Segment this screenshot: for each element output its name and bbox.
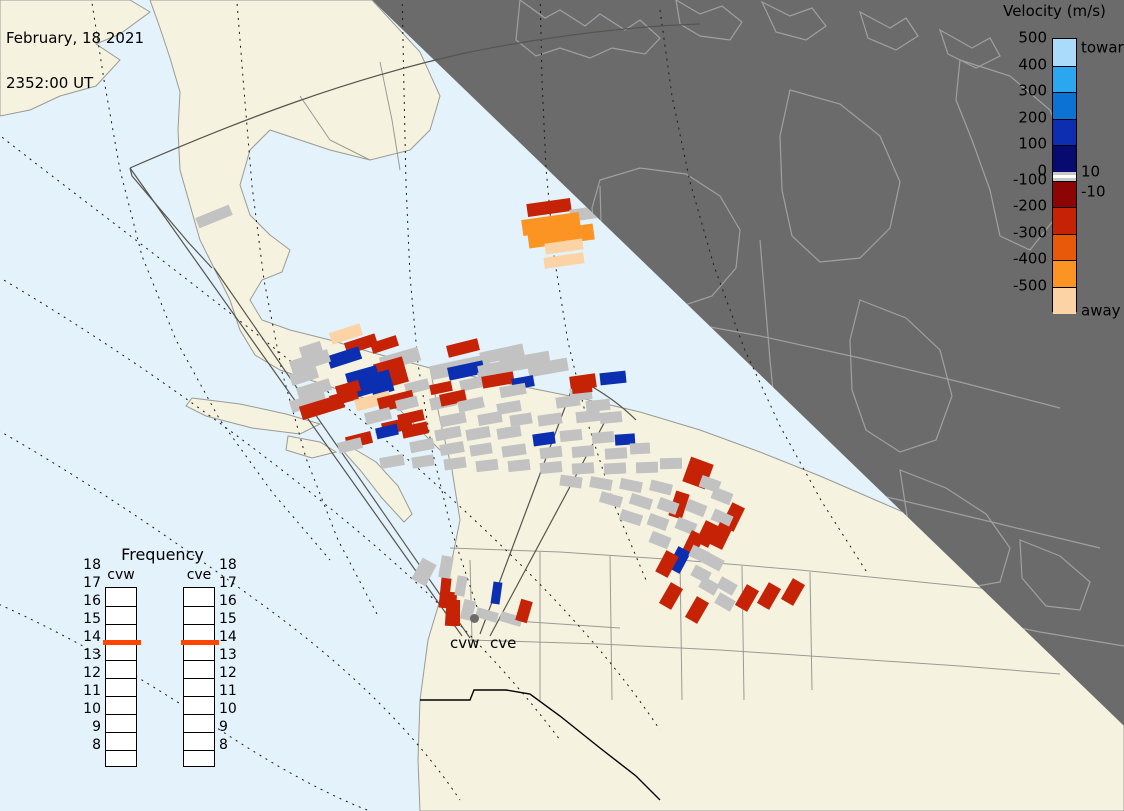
colorbar-band--100: [1053, 181, 1076, 209]
colorbar-tick--300: -300: [1013, 225, 1047, 240]
frequency-bar-cve: [183, 587, 215, 767]
colorbar-tick-200: 200: [1018, 110, 1047, 125]
frequency-tick-14: 14: [83, 630, 101, 644]
colorbar-band-200: [1053, 119, 1076, 147]
velocity-cell: [636, 462, 658, 474]
colorbar-tick-100: 100: [1018, 137, 1047, 152]
colorbar-band-100: [1053, 145, 1076, 173]
colorbar-tick-500: 500: [1018, 31, 1047, 46]
frequency-segment-divider: [106, 750, 136, 751]
colorbar-toward-label: toward: [1081, 41, 1124, 56]
colorbar-tick-400: 400: [1018, 57, 1047, 72]
frequency-tick-9: 9: [219, 720, 228, 734]
velocity-cell: [660, 458, 682, 469]
timestamp-time: 2352:00 UT: [6, 76, 144, 91]
velocity-cell: [604, 462, 627, 474]
frequency-tick-10: 10: [219, 702, 237, 716]
frequency-segment-divider: [106, 624, 136, 625]
frequency-segment-divider: [184, 696, 214, 697]
colorbar-tick-labels: 5004003002001000-100-200-300-400-500: [985, 0, 1047, 335]
frequency-tick-14: 14: [219, 630, 237, 644]
colorbar-away-label: away: [1081, 304, 1121, 319]
radar-site-marker: [470, 614, 479, 623]
frequency-bar-cvw: [105, 587, 137, 767]
frequency-marker-cve: [181, 640, 219, 645]
frequency-segment-divider: [106, 732, 136, 733]
colorbar-tick--400: -400: [1013, 252, 1047, 267]
frequency-legend: Frequency cvwcve181716151413121110981817…: [85, 545, 240, 780]
velocity-cell: [540, 461, 563, 474]
colorbar-tick-300: 300: [1018, 84, 1047, 99]
radar-map-page: February, 18 2021 2352:00 UT Velocity (m…: [0, 0, 1124, 811]
frequency-segment-divider: [106, 696, 136, 697]
frequency-segment-divider: [106, 678, 136, 679]
velocity-cell: [630, 442, 651, 454]
frequency-tick-9: 9: [92, 720, 101, 734]
velocity-cell: [507, 459, 530, 472]
frequency-tick-12: 12: [83, 666, 101, 680]
frequency-segment-divider: [184, 750, 214, 751]
timestamp-date: February, 18 2021: [6, 31, 144, 46]
frequency-tick-17: 17: [219, 576, 237, 590]
colorbar-band-0: [1053, 172, 1076, 181]
velocity-cell: [605, 447, 628, 460]
frequency-segment-divider: [184, 624, 214, 625]
velocity-cell: [572, 462, 595, 475]
radar-site-label-cvw: cvw: [450, 636, 479, 651]
frequency-tick-15: 15: [219, 612, 237, 626]
velocity-cell: [600, 411, 623, 424]
frequency-tick-16: 16: [83, 594, 101, 608]
frequency-marker-cvw: [103, 640, 141, 645]
frequency-tick-15: 15: [83, 612, 101, 626]
frequency-segment-divider: [184, 732, 214, 733]
velocity-cell: [452, 600, 460, 626]
velocity-colorbar: Velocity (m/s) 5004003002001000-100-200-…: [985, 0, 1124, 335]
frequency-tick-column: 18171615141312111098: [219, 565, 241, 745]
frequency-segment-divider: [184, 606, 214, 607]
frequency-segment-divider: [106, 714, 136, 715]
velocity-cell: [572, 445, 595, 458]
colorbar-tick--200: -200: [1013, 199, 1047, 214]
frequency-segment-divider: [184, 660, 214, 661]
frequency-tick-13: 13: [219, 648, 237, 662]
frequency-tick-10: 10: [83, 702, 101, 716]
frequency-segment-divider: [184, 678, 214, 679]
colorbar-band--300: [1053, 234, 1076, 262]
frequency-legend-title: Frequency: [85, 545, 240, 564]
frequency-tick-17: 17: [83, 576, 101, 590]
timestamp: February, 18 2021 2352:00 UT: [6, 1, 144, 121]
frequency-tick-8: 8: [92, 738, 101, 752]
frequency-column-label-cve: cve: [179, 567, 219, 583]
velocity-cell: [592, 431, 615, 444]
frequency-segment-divider: [184, 714, 214, 715]
frequency-segment-divider: [106, 660, 136, 661]
colorbar-band--500: [1053, 287, 1076, 315]
frequency-tick-11: 11: [219, 684, 237, 698]
frequency-tick-11: 11: [83, 684, 101, 698]
frequency-tick-16: 16: [219, 594, 237, 608]
frequency-tick-column: 18171615141312111098: [79, 565, 101, 745]
colorbar-band-400: [1053, 66, 1076, 94]
colorbar-tick--500: -500: [1013, 278, 1047, 293]
frequency-tick-12: 12: [219, 666, 237, 680]
radar-site-label-cve: cve: [490, 636, 516, 651]
colorbar-band--200: [1053, 207, 1076, 235]
colorbar-negative-threshold-label: -10: [1081, 185, 1106, 200]
colorbar-band-300: [1053, 92, 1076, 120]
frequency-tick-18: 18: [83, 558, 101, 572]
frequency-column-label-cvw: cvw: [101, 567, 141, 583]
frequency-tick-8: 8: [219, 738, 228, 752]
velocity-cell: [559, 429, 582, 442]
colorbar-positive-threshold-label: 10: [1081, 165, 1100, 180]
frequency-tick-13: 13: [83, 648, 101, 662]
frequency-segment-divider: [106, 606, 136, 607]
colorbar-tick--100: -100: [1013, 172, 1047, 187]
frequency-tick-18: 18: [219, 558, 237, 572]
colorbar-gradient: [1052, 38, 1077, 312]
colorbar-band-500: [1053, 39, 1076, 66]
velocity-cell: [571, 381, 592, 394]
colorbar-band--400: [1053, 260, 1076, 288]
